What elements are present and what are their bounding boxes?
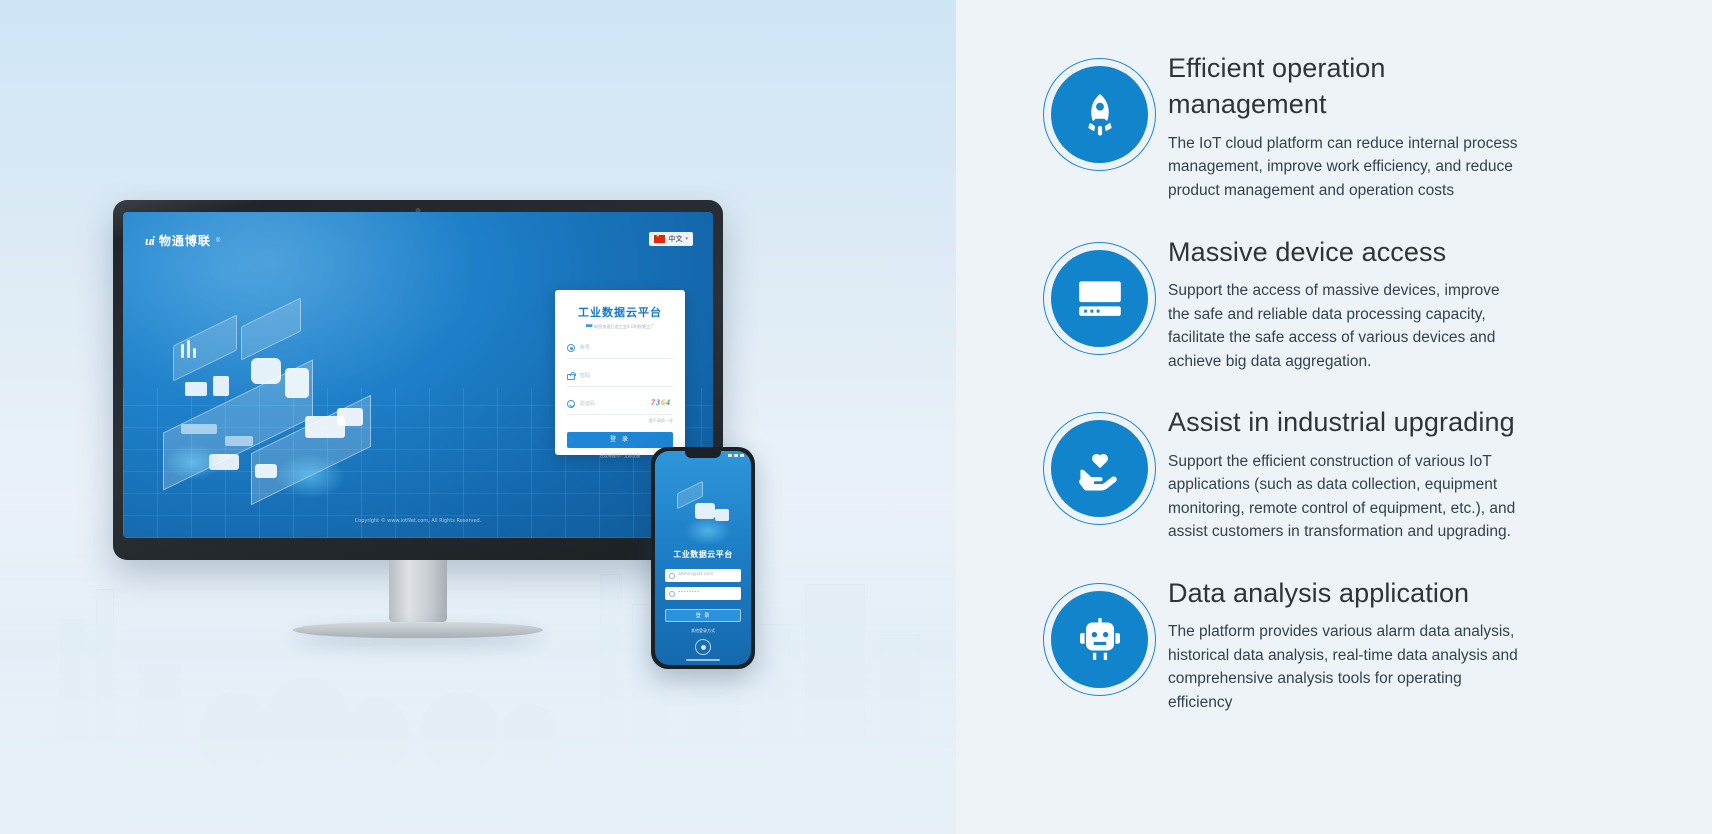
account-placeholder: 账号 [580,346,590,351]
feature-text: Assist in industrial upgrading Support t… [1168,400,1522,544]
phone-login-title: 工业数据云平台 [655,551,751,559]
feature-item-efficient-operation-management: Efficient operation management The IoT c… [1031,46,1522,203]
chevron-down-icon: ▾ [685,236,688,242]
feature-text: Massive device access Support the access… [1168,230,1522,374]
feature-title: Data analysis application [1168,575,1522,611]
language-switcher[interactable]: 中文 ▾ [649,232,693,246]
hero-image-panel: ui 物通博联 ® 中文 ▾ [0,0,956,834]
heart-in-hands-icon [1075,444,1125,494]
robot-icon [1075,614,1125,664]
phone-other-login-link[interactable]: 其他登录方式 [655,629,751,633]
captcha-field[interactable]: 验证码 7364 [567,394,673,415]
battery-icon [740,454,744,457]
logo-wordmark: 物通博联 [159,235,211,247]
icon-disc [1051,250,1148,347]
feature-title: Assist in industrial upgrading [1168,404,1522,440]
phone-password-value: •••••••• [678,591,699,596]
feature-icon-wrap [1031,571,1168,696]
phone-home-indicator [686,659,720,661]
login-card: 工业数据云平台 助您快速打造工业4.0的智慧工厂 账号 密码 [555,290,685,455]
registered-mark: ® [216,238,220,244]
copyright-text: Copyright © www.iotNet.com, All Rights R… [123,519,713,524]
logo-mark: ui [145,234,154,247]
monitor-screen: ui 物通博联 ® 中文 ▾ [123,212,713,538]
password-placeholder: 密码 [580,374,590,379]
icon-disc [1051,66,1148,163]
phone-account-field[interactable]: admin@iot.com [665,569,741,582]
captcha-refresh-link[interactable]: 看不清换一张 [578,421,673,425]
login-subtitle: 助您快速打造工业4.0的智慧工厂 [571,324,669,331]
feature-description: The platform provides various alarm data… [1168,620,1522,714]
phone-login-button[interactable]: 登 录 [665,609,741,622]
language-label: 中文 [668,234,682,244]
user-icon [669,573,675,579]
china-flag-icon [654,235,665,243]
feature-title: Efficient operation management [1168,50,1522,123]
icon-ring [1043,412,1156,525]
signal-icon [728,454,732,457]
password-field[interactable]: 密码 [567,366,673,387]
subtitle-dash [586,324,592,327]
shield-check-icon [567,400,575,408]
phone-status-bar [728,454,744,457]
server-monitor-icon [1075,273,1125,323]
icon-disc [1051,591,1148,688]
monitor-bezel: ui 物通博联 ® 中文 ▾ [113,200,723,560]
feature-text: Efficient operation management The IoT c… [1168,46,1522,203]
icon-disc [1051,420,1148,517]
platform-logo: ui 物通博联 ® [145,234,220,247]
account-field[interactable]: 账号 [567,338,673,359]
landing-page: ui 物通博联 ® 中文 ▾ [0,0,1712,834]
login-submit-button[interactable]: 登 录 [567,432,673,448]
phone-account-value: admin@iot.com [678,573,713,578]
phone-notch [685,451,721,458]
rocket-icon [1075,90,1125,140]
icon-ring [1043,583,1156,696]
user-icon [567,344,575,352]
feature-description: Support the efficient construction of va… [1168,450,1522,544]
feature-icon-wrap [1031,400,1168,525]
feature-item-massive-device-access: Massive device access Support the access… [1031,230,1522,374]
lock-icon [669,591,675,597]
wifi-icon [734,454,738,457]
feature-description: The IoT cloud platform can reduce intern… [1168,132,1522,203]
feature-title: Massive device access [1168,234,1522,270]
feature-icon-wrap [1031,46,1168,171]
login-title: 工业数据云平台 [567,306,673,319]
phone-screen: 工业数据云平台 admin@iot.com •••••••• 登 录 其他登录方… [655,451,751,665]
feature-item-data-analysis-application: Data analysis application The platform p… [1031,571,1522,715]
captcha-placeholder: 验证码 [580,402,595,407]
icon-ring [1043,242,1156,355]
phone-password-field[interactable]: •••••••• [665,587,741,600]
monitor-stand-neck [389,560,447,622]
monitor-stand-base [293,622,543,638]
icon-ring [1043,58,1156,171]
feature-text: Data analysis application The platform p… [1168,571,1522,715]
desktop-monitor-mockup: ui 物通博联 ® 中文 ▾ [113,200,723,638]
feature-icon-wrap [1031,230,1168,355]
feature-item-assist-in-industrial-upgrading: Assist in industrial upgrading Support t… [1031,400,1522,544]
feature-description: Support the access of massive devices, i… [1168,279,1522,373]
lock-icon [567,374,575,380]
feature-list: Efficient operation management The IoT c… [956,0,1712,834]
captcha-image[interactable]: 7364 [651,399,671,407]
phone-isometric-illustration [671,479,743,545]
wechat-login-icon[interactable] [695,639,711,655]
isometric-factory-illustration [155,304,405,504]
mobile-phone-mockup: 工业数据云平台 admin@iot.com •••••••• 登 录 其他登录方… [651,447,755,669]
